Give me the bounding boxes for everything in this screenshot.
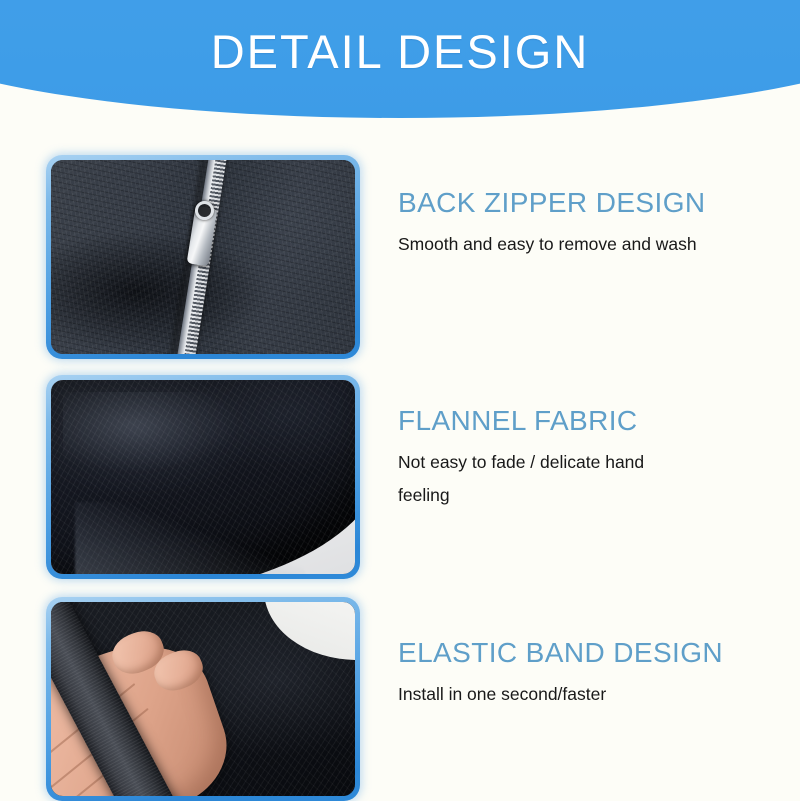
feature-heading: BACK ZIPPER DESIGN [398, 187, 770, 219]
feature-heading: ELASTIC BAND DESIGN [398, 637, 770, 669]
zipper-photo-content [51, 160, 355, 354]
feature-text-flannel-fabric: FLANNEL FABRIC Not easy to fade / delica… [398, 405, 770, 512]
flannel-photo-card [46, 375, 360, 579]
feature-text-back-zipper-design: BACK ZIPPER DESIGN Smooth and easy to re… [398, 187, 770, 261]
feature-body: Smooth and easy to remove and wash [398, 228, 698, 261]
feature-text-elastic-band-design: ELASTIC BAND DESIGN Install in one secon… [398, 637, 770, 711]
page-title: DETAIL DESIGN [0, 26, 800, 78]
flannel-photo-content [51, 380, 355, 574]
elastic-band-photo-content [51, 602, 355, 796]
feature-heading: FLANNEL FABRIC [398, 405, 770, 437]
elastic-band-photo [51, 602, 355, 796]
elastic-band-photo-card [46, 597, 360, 801]
flannel-photo [51, 380, 355, 574]
feature-body: Install in one second/faster [398, 678, 698, 711]
product-detail-infographic: DETAIL DESIGN BACK ZIPPER DESIGN Smooth … [0, 0, 800, 800]
zipper-photo-card [46, 155, 360, 359]
feature-body: Not easy to fade / delicate hand feeling [398, 446, 698, 512]
header-banner: DETAIL DESIGN [0, 0, 800, 118]
zipper-photo [51, 160, 355, 354]
flannel-highlight [63, 392, 239, 473]
